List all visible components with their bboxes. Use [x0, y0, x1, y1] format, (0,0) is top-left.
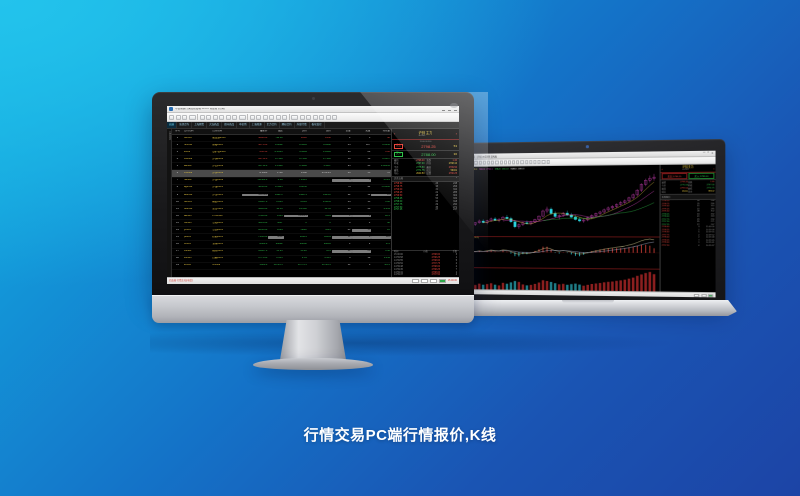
book-qty: 15 — [422, 186, 438, 188]
table-row[interactable]: 12ta2401PTA24015790.00134423902113441146… — [172, 213, 391, 220]
fund-icon[interactable] — [226, 115, 231, 120]
open-interest: 0.0036 — [371, 144, 391, 147]
last-price: 458.080 — [242, 194, 268, 197]
back-icon[interactable] — [176, 115, 181, 120]
table-row[interactable]: 1rb2310螺纹钢23103808.00-18.00261825382340 — [172, 135, 391, 142]
row-index: 14 — [172, 229, 183, 232]
kline-status-icons — [694, 293, 714, 296]
bid-price: 0.3403 — [284, 144, 308, 147]
change: 0.09 — [268, 179, 283, 182]
last-price: 18710.0 — [242, 165, 268, 168]
kline-volume-panel[interactable]: VOL — [464, 268, 660, 292]
last-price: -2.1800 — [242, 172, 268, 175]
table-row[interactable]: 11bu2312沥青23123640.0014.3514.34014.35684… — [172, 206, 391, 213]
book-total: 271 — [441, 207, 457, 209]
kline-macd-panel[interactable]: MACD(12,26,9) — [464, 237, 660, 269]
monitor-bezel: 中信期货行情交易终端 v3.0.6 专业版 [行情] 自选全部合约上海期货大连商… — [152, 92, 474, 297]
last-price: 3686.0 — [242, 264, 268, 267]
kline-quote-stats: 最新2798.40涨跌1.40今开2775.50昨收2797.00最高2799.… — [661, 180, 716, 194]
save-icon[interactable] — [516, 160, 519, 164]
ask-price: 1.7440 — [308, 158, 332, 161]
overlay-icon[interactable] — [512, 160, 515, 164]
table-row[interactable]: 19if2309IF23093686.010783.510773.510783.… — [172, 263, 391, 270]
net-icon — [694, 293, 699, 296]
change: 2.615 — [268, 257, 283, 260]
tab-6[interactable]: 上海能源 — [250, 122, 265, 128]
contract-name: PTA2401 — [211, 215, 242, 218]
table-row[interactable]: 14y2401豆油24018050.001024-46221024811510 — [172, 227, 391, 234]
row-index: 11 — [172, 208, 183, 211]
contract-code: if2309 — [183, 264, 211, 267]
open-interest: 40 — [371, 137, 391, 140]
bid-volume: 1 — [332, 243, 352, 246]
ask-price: 2.8055 — [308, 201, 332, 204]
open-interest: 10 — [371, 229, 391, 232]
kline-chart-column: MA5: 2798.4MA10: 2750.1MA20: 2661.8MA60:… — [464, 165, 660, 292]
fib-icon[interactable] — [487, 161, 490, 165]
calendar-icon[interactable] — [319, 115, 324, 120]
order-icon[interactable] — [213, 115, 218, 120]
next-contract-icon[interactable]: › — [456, 132, 457, 136]
compare-icon[interactable] — [538, 160, 541, 164]
book-qty: 35 — [422, 207, 438, 209]
trendline-icon[interactable] — [474, 161, 477, 165]
change: -18.00 — [268, 137, 283, 140]
bid-quote-row[interactable]: 买入 2788.00 36 — [392, 151, 459, 159]
book-price: 2798.00 — [394, 201, 419, 203]
last-price: -2600.0 — [242, 243, 268, 246]
bid-volume: 22 — [332, 194, 352, 197]
layout-icon[interactable] — [300, 115, 305, 120]
bid-book-row[interactable]: 2797.2527247 — [392, 209, 459, 212]
ask-volume: 15 — [352, 201, 372, 204]
app-toolbar[interactable] — [167, 113, 459, 122]
bid-volume: 6 — [332, 257, 352, 260]
last-price: 5790.00 — [242, 215, 268, 218]
change: 1344 — [268, 215, 283, 218]
bid-volume: 81 — [332, 229, 352, 232]
book-total: 248 — [441, 183, 457, 185]
app-body: 行情列表 序号合约代码合约名称最新价涨跌买价卖价买量卖量持仓量 1rb2310螺… — [167, 129, 459, 277]
bid-volume: 51 — [332, 264, 352, 267]
book-qty: 26 — [422, 183, 438, 185]
delete-icon[interactable] — [546, 160, 549, 164]
contract-name: 热卷2310 — [211, 144, 242, 147]
table-row[interactable]: 13m2401豆粕24013845.005267000440 — [172, 220, 391, 227]
quote-grid: 序号合约代码合约名称最新价涨跌买价卖价买量卖量持仓量 1rb2310螺纹钢231… — [172, 129, 391, 277]
signal-icon — [708, 294, 713, 297]
ask-volume: 91 — [352, 186, 372, 189]
home-icon[interactable] — [169, 115, 174, 120]
last-price: -18500.0 — [242, 179, 268, 182]
table-row[interactable]: 8ag2312沪银23125850.000.39250.92567491-0.0… — [172, 185, 391, 192]
laptop-hinge-notch — [562, 300, 614, 303]
bid-price: 0.9256 — [284, 186, 308, 189]
toolbar-separator — [247, 114, 248, 120]
book-total: 332 — [441, 198, 457, 200]
table-row[interactable]: 9au2312沪金2312458.0801961.11961.11961.222… — [172, 192, 391, 199]
column-header-2[interactable]: 合约名称 — [211, 130, 242, 132]
kline-order-book[interactable]: 2798.50262482798.75152662799.00313102799… — [661, 200, 716, 292]
change: 55.25 — [268, 250, 283, 253]
bid-price: 2.61 — [284, 257, 308, 260]
book-price: 2797.25 — [394, 209, 419, 211]
news-icon[interactable] — [313, 115, 318, 120]
kline-quote-header: ‹ 沪锌主力 zn2309 › — [661, 164, 716, 173]
change: 1.1980 — [268, 165, 283, 168]
bid-volume: 95 — [332, 165, 352, 168]
column-header-8[interactable]: 卖量 — [352, 130, 372, 132]
contract-code: zn2309 — [183, 172, 211, 175]
book-price: 2799.00 — [394, 189, 419, 191]
bid-price: 2618 — [284, 137, 308, 140]
row-index: 19 — [172, 264, 183, 267]
grid-rows[interactable]: 1rb2310螺纹钢23103808.00-18.002618253823402… — [172, 135, 391, 270]
book-total: 318 — [441, 201, 457, 203]
ask-quote-row[interactable]: 卖出 2798.25 53 — [392, 143, 459, 151]
ask-volume: 46 — [352, 208, 372, 211]
column-header-1[interactable]: 合约代码 — [183, 130, 211, 132]
book-total: 266 — [441, 186, 457, 188]
bid-price: 2.845 — [284, 201, 308, 204]
ask-price: 2798.25 — [405, 145, 451, 149]
next-contract-icon[interactable]: › — [713, 166, 714, 170]
book-qty: 29 — [422, 204, 438, 206]
vline-icon[interactable] — [483, 161, 486, 165]
table-row[interactable]: 3i2309铁矿石2309830.50-1.26453.34841.264696… — [172, 149, 391, 156]
ask-price: 10783.5 — [308, 264, 332, 267]
ma-legend-3: MA60: 2480.3 — [511, 168, 525, 170]
status-indicators: 15:00:00 — [412, 279, 457, 284]
change: -1.2645 — [268, 151, 283, 154]
kline-application: 行情分析 - 沪锌 zn2309 日K线 — □ ✕ MA5: 2798.4MA… — [464, 151, 716, 298]
bid-volume: 74 — [332, 186, 352, 189]
contract-name: 沪铝2309 — [211, 165, 242, 168]
minimize-icon[interactable] — [442, 110, 445, 111]
close-icon[interactable]: ✕ — [711, 152, 713, 155]
bid-price: 14.340 — [284, 208, 308, 211]
market-tabstrip[interactable]: 自选全部合约上海期货大连商品郑州商品中金所上海能源主力合约期权合约外盘行情板块监… — [167, 122, 459, 129]
ask-volume: 53 — [352, 172, 372, 175]
open-interest: 0.011 — [371, 257, 391, 260]
contract-name: 沪镍2309 — [211, 179, 242, 182]
last-price: 13807.0 — [242, 201, 268, 204]
row-index: 9 — [172, 194, 183, 197]
last-price: 92750.0 — [242, 158, 268, 161]
change: 1780 — [268, 172, 283, 175]
open-interest: 22 — [371, 194, 391, 197]
row-index: 1 — [172, 137, 183, 140]
stat-label: 均价 — [394, 173, 399, 175]
kline-main: MA5: 2798.4MA10: 2750.1MA20: 2661.8MA60:… — [464, 164, 716, 292]
ask-volume: 4 — [352, 236, 372, 239]
contract-name: 沥青2312 — [211, 208, 242, 211]
row-index: 10 — [172, 201, 183, 204]
tab-9[interactable]: 外盘行情 — [295, 122, 310, 128]
row-index: 18 — [172, 257, 183, 260]
ask-volume: 187 — [352, 144, 372, 147]
maximize-icon[interactable]: □ — [708, 152, 710, 155]
app-statusbar: 已连接:行情主站(电信) 15:00:00 — [167, 277, 459, 284]
contract-name: 豆粕2401 — [211, 222, 242, 225]
row-index: 7 — [172, 179, 183, 182]
contract-code: p2401 — [183, 236, 211, 239]
contract-name: 沪铜2309 — [211, 158, 242, 161]
bid-price: 2180 — [284, 172, 308, 175]
alert-icon[interactable] — [263, 115, 268, 120]
toolbar-separator — [197, 114, 198, 120]
ask-volume: 53 — [454, 145, 457, 148]
gutter-label: 行情列表 — [168, 131, 170, 140]
row-index: 12 — [172, 215, 183, 218]
contract-name: 沪金2312 — [211, 194, 242, 197]
change: 14.35 — [268, 208, 283, 211]
tab-10[interactable]: 板块监控 — [310, 122, 325, 128]
quote-statistics: 最新2798.40涨跌1.40昨收2797.00持仓2798.10今开2775.… — [392, 159, 459, 176]
exit-icon[interactable] — [332, 115, 337, 120]
book-price: 2799.25 — [394, 192, 419, 194]
forward-icon[interactable] — [182, 115, 187, 120]
theme-icon[interactable] — [306, 115, 311, 120]
book-qty: 27 — [422, 209, 438, 211]
maximize-icon[interactable] — [448, 110, 451, 111]
last-price: 16807.0 — [242, 250, 268, 253]
change: 26002 — [268, 243, 283, 246]
calc-icon[interactable] — [326, 115, 331, 120]
ask-price: 1.1187 — [308, 165, 332, 168]
table-row[interactable]: 4cu2309沪铜230992750.00.74060.74061.744058… — [172, 156, 391, 163]
contract-name: 棕榈2401 — [211, 236, 242, 239]
zoom-out-icon[interactable] — [499, 160, 502, 164]
settings-icon[interactable] — [250, 115, 255, 120]
position-icon[interactable] — [219, 115, 224, 120]
contract-code: ru2401 — [183, 201, 211, 204]
quote-application: 中信期货行情交易终端 v3.0.6 专业版 [行情] 自选全部合约上海期货大连商… — [167, 106, 459, 284]
change: 10783.5 — [268, 264, 283, 267]
table-row[interactable]: 16c2401玉米2401-2600.026002260022600312176 — [172, 241, 391, 248]
open-interest: 23.25 — [371, 179, 391, 182]
contract-code: al2309 — [183, 165, 211, 168]
ma-legend-1: MA10: 2750.1 — [479, 168, 493, 170]
book-qty: 41 — [422, 201, 438, 203]
book-price: 2797.50 — [394, 207, 419, 209]
floor-shadow — [150, 330, 670, 356]
column-header-3[interactable]: 最新价 — [242, 130, 268, 132]
table-row[interactable]: 5al2309沪铝230918710.01.19801.11961.118795… — [172, 163, 391, 170]
book-total: 247 — [441, 209, 457, 211]
last-price: 830.50 — [242, 151, 268, 154]
book-total: 310 — [441, 189, 457, 191]
book-qty: 22 — [422, 192, 438, 194]
tick-time: 14:59:37 — [700, 245, 715, 247]
export-icon[interactable] — [291, 115, 298, 120]
hline-icon[interactable] — [478, 161, 481, 165]
table-row[interactable]: 6zn2309沪锌2309-2.1800178021802788.2526537… — [172, 170, 391, 177]
bid-box[interactable]: 买入 2788.00 — [688, 173, 714, 179]
contract-name: 螺纹钢2310 — [211, 137, 242, 140]
refresh-icon[interactable] — [189, 115, 196, 120]
row-index: 13 — [172, 222, 183, 225]
last-price: 3845.00 — [242, 222, 268, 225]
period-icon[interactable] — [504, 160, 507, 164]
prev-contract-icon[interactable]: ‹ — [394, 132, 395, 136]
laptop-screen: 行情分析 - 沪锌 zn2309 日K线 — □ ✕ MA5: 2798.4MA… — [464, 151, 716, 298]
tab-4[interactable]: 郑州商品 — [222, 122, 237, 128]
quote-header: ‹ 沪锌 主力 zn2309 › — [392, 129, 459, 140]
bid-volume: 36 — [454, 153, 457, 156]
ask-box[interactable]: 卖出 2798.25 — [662, 173, 688, 179]
ask-volume: 1 — [352, 215, 372, 218]
transfer-icon[interactable] — [232, 115, 237, 120]
column-header-0[interactable]: 序号 — [172, 130, 183, 132]
help-icon[interactable] — [276, 115, 281, 120]
last-price: 8050.00 — [242, 229, 268, 232]
quote-server-icon — [421, 279, 428, 284]
text-icon[interactable] — [491, 160, 494, 164]
last-price: 3640.00 — [242, 208, 268, 211]
quote-stat: 均价2640.50 — [393, 172, 426, 175]
tab-0[interactable]: 自选 — [167, 122, 177, 128]
monitor-screen: 中信期货行情交易终端 v3.0.6 专业版 [行情] 自选全部合约上海期货大连商… — [167, 106, 459, 284]
ask-volume: 2 — [352, 243, 372, 246]
bid-volume: 26 — [332, 172, 352, 175]
table-row[interactable]: 18sr2401白糖24016775.002.6152.612.6156180.… — [172, 256, 391, 263]
stat-value: 2640.50 — [416, 173, 424, 175]
open-interest: -22.5 — [371, 264, 391, 267]
scene: 行情分析 - 沪锌 zn2309 日K线 — □ ✕ MA5: 2798.4MA… — [0, 0, 800, 496]
column-header-6[interactable]: 卖价 — [308, 130, 332, 132]
book-price: 2797.75 — [394, 204, 419, 206]
last-price: 5850.00 — [242, 186, 268, 189]
tab-5[interactable]: 中金所 — [237, 122, 250, 128]
bid-volume: 4 — [332, 179, 352, 182]
table-row[interactable]: 2hc2310热卷23103875.000.00020.34030.840835… — [172, 142, 391, 149]
chart-icon[interactable] — [206, 115, 211, 120]
bid-label: 买入 — [394, 152, 403, 157]
refresh-icon[interactable] — [525, 160, 528, 164]
column-header-4[interactable]: 涨跌 — [268, 130, 283, 132]
stat-value: 2790.25 — [449, 173, 457, 175]
tick-list[interactable]: 15:00:002798.00314:59:582798.25114:59:55… — [392, 254, 459, 277]
search-icon[interactable] — [256, 115, 261, 120]
tab-3[interactable]: 大连商品 — [207, 122, 222, 128]
desktop-monitor-device: 中信期货行情交易终端 v3.0.6 专业版 [行情] 自选全部合约上海期货大连商… — [152, 92, 474, 320]
prev-contract-icon[interactable]: ‹ — [662, 167, 663, 171]
contract-code: c2401 — [183, 243, 211, 246]
change: 5267 — [268, 222, 283, 225]
trade-server-icon — [430, 279, 437, 284]
bid-price: 20011 — [284, 236, 308, 239]
open-interest: -0.0002 — [371, 186, 391, 189]
quote-icon[interactable] — [200, 115, 205, 120]
ask-price: 20111 — [308, 236, 332, 239]
print-icon[interactable] — [282, 115, 287, 120]
monitor-stand-foot — [253, 358, 373, 370]
contract-name: 玉米2401 — [211, 243, 242, 246]
column-header-7[interactable]: 买量 — [332, 130, 352, 132]
change: 2.845 — [268, 201, 283, 204]
minimize-icon[interactable]: — — [703, 152, 705, 155]
bid-volume: 58 — [332, 158, 352, 161]
row-index: 2 — [172, 144, 183, 147]
fullscreen-icon[interactable] — [529, 160, 532, 164]
contract-name: 橡胶2401 — [211, 201, 242, 204]
table-row[interactable]: 7ni2309沪镍2309-18500.00.097.24134523.25 — [172, 178, 391, 185]
open-interest: 46.5 — [371, 215, 391, 218]
app-title-text: 中信期货行情交易终端 v3.0.6 专业版 [行情] — [175, 108, 225, 111]
collapse-icon[interactable]: ^ — [456, 178, 457, 180]
bid-price: 55.20 — [284, 250, 308, 253]
ask-price: 2.615 — [308, 257, 332, 260]
table-row[interactable]: 17cf2401棉花240116807.055.2555.2055.322265… — [172, 249, 391, 256]
tab-2[interactable]: 上海期货 — [192, 122, 207, 128]
print-icon[interactable] — [521, 160, 524, 164]
bid-price: 239021 — [284, 215, 308, 218]
change: 0.0002 — [268, 144, 283, 147]
book-price: 2798.25 — [394, 198, 419, 200]
column-header-9[interactable]: 持仓量 — [371, 130, 391, 132]
table-row[interactable]: 10ru2401橡胶240113807.02.8452.8452.8055331… — [172, 199, 391, 206]
order-book[interactable]: 2798.50262482798.75152662799.00313102799… — [392, 182, 459, 250]
kline-price-panel[interactable]: K线(日) — [464, 170, 660, 237]
ask-price: 2788.25 — [308, 172, 332, 175]
quote-stat: 结算2790.25 — [426, 172, 459, 175]
ask-price: 0 — [308, 222, 332, 225]
contract-name: IF2309 — [211, 264, 242, 267]
settings-icon[interactable] — [533, 160, 536, 164]
draw-icon[interactable] — [542, 160, 545, 164]
kline-window-controls[interactable]: — □ ✕ — [703, 152, 713, 155]
quote-contract-code: zn2309 — [419, 135, 426, 137]
ma-legend-2: MA20: 2661.8 — [495, 168, 509, 170]
monitor-camera-icon — [312, 97, 315, 100]
tick-row: 2797.50414:59:37 — [661, 244, 716, 247]
query-icon[interactable] — [239, 115, 246, 120]
book-qty: 53 — [422, 198, 438, 200]
ask-volume: 5 — [352, 179, 372, 182]
lock-icon[interactable] — [269, 115, 274, 120]
tab-7[interactable]: 主力合约 — [265, 122, 280, 128]
bid-volume: 22 — [332, 250, 352, 253]
ask-price: 0.8408 — [308, 144, 332, 147]
ask-volume: 3 — [352, 137, 372, 140]
zoom-in-icon[interactable] — [495, 160, 498, 164]
change: 1961.1 — [268, 194, 283, 197]
bid-price: 26002 — [284, 243, 308, 246]
book-total: 290 — [441, 204, 457, 206]
last-price: 3808.00 — [242, 137, 268, 140]
close-icon[interactable] — [454, 110, 457, 111]
table-row[interactable]: 15p2401棕榈24017430.0040022001120111114120 — [172, 234, 391, 241]
kline-quote-code: zn2309 — [682, 169, 688, 171]
contract-name: 棉花2401 — [211, 250, 242, 253]
tab-8[interactable]: 期权合约 — [280, 122, 295, 128]
contract-name: 铁矿石2309 — [211, 151, 242, 154]
bid-price: 3.3484 — [284, 151, 308, 154]
book-price: 2798.50 — [394, 183, 419, 185]
bid-price: 1961.1 — [284, 194, 308, 197]
bid-volume: 96 — [332, 151, 352, 154]
open-interest: 4.041 — [371, 208, 391, 211]
column-header-5[interactable]: 买价 — [284, 130, 308, 132]
tab-1[interactable]: 全部合约 — [177, 122, 192, 128]
ask-volume: 19 — [352, 194, 372, 197]
ask-volume: 18 — [352, 257, 372, 260]
contract-name: 沪银2312 — [211, 186, 242, 189]
last-price: 6775.00 — [242, 257, 268, 260]
contract-code: y2401 — [183, 229, 211, 232]
indicator-icon[interactable] — [508, 160, 511, 164]
